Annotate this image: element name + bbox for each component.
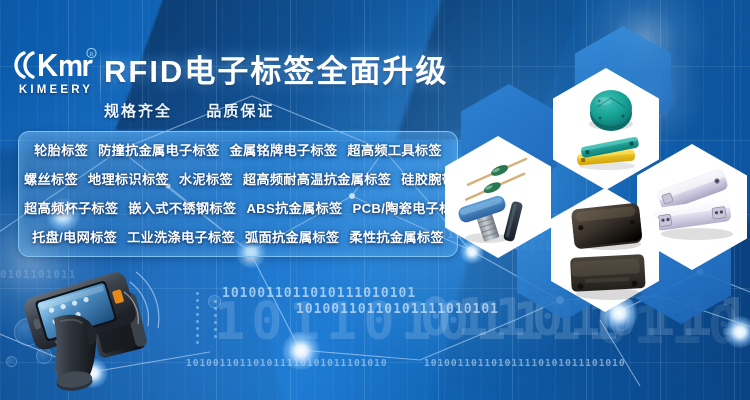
glass-tube-and-screw-tags-image xyxy=(457,148,541,248)
product-hexagon-cluster xyxy=(455,60,750,290)
brand-wordmark: KIMEERY xyxy=(14,84,98,96)
tag-item: 工业洗涤电子标签 xyxy=(127,223,235,252)
bg-binary-mid-2: 10100110110101111010101 xyxy=(296,302,499,317)
tag-item: 超高频工具标签 xyxy=(347,136,441,165)
brand-logo[interactable]: R KIMEERY xyxy=(14,48,98,104)
bg-binary-small-2: 101001101101011110101011101010 xyxy=(424,358,626,369)
tag-item: 超高频耐高温抗金属标签 xyxy=(243,165,391,194)
bg-binary-small-1: 101001101101011110101011101010 xyxy=(186,358,388,369)
tag-item: 超高频杯子标签 xyxy=(24,194,118,223)
bg-binary-mid-1: 1010011011010111010101 xyxy=(222,286,416,301)
tag-item: 弧面抗金属标签 xyxy=(245,223,339,252)
bg-bubble-4 xyxy=(208,295,221,308)
logo-divider xyxy=(100,46,101,108)
tag-item: 轮胎标签 xyxy=(34,136,88,165)
rfid-promo-banner: 10110101111 0110101111 10100110110101110… xyxy=(0,0,750,400)
tag-item: 水泥标签 xyxy=(179,165,233,194)
teal-disc-and-bar-tags-image xyxy=(567,80,651,180)
subtitle-right: 品质保证 xyxy=(206,103,274,120)
registered-mark-icon: R xyxy=(87,48,96,58)
svg-text:R: R xyxy=(89,51,94,58)
node-glow-6 xyxy=(724,316,750,348)
tag-item: 金属铭牌电子标签 xyxy=(230,136,338,165)
tag-item: 柔性抗金属标签 xyxy=(349,223,443,252)
bg-dot-column-1 xyxy=(196,292,199,348)
kmr-logo-icon: R xyxy=(14,48,98,82)
tag-item: 防撞抗金属电子标签 xyxy=(98,136,219,165)
node-glow-2 xyxy=(282,332,320,370)
headline-block: RFID电子标签全面升级 规格齐全 品质保证 xyxy=(104,50,448,121)
product-tag-panel: 轮胎标签防撞抗金属电子标签金属铭牌电子标签超高频工具标签 螺丝标签地理标识标签水… xyxy=(18,131,458,257)
tag-row: 超高频杯子标签嵌入式不锈钢标签ABS抗金属标签PCB/陶瓷电子标签 xyxy=(19,194,457,223)
tag-row: 螺丝标签地理标识标签水泥标签超高频耐高温抗金属标签硅胶腕带 xyxy=(19,165,457,194)
tag-item: ABS抗金属标签 xyxy=(246,194,342,223)
bg-bubble-3 xyxy=(6,356,17,367)
tag-item: 嵌入式不锈钢标签 xyxy=(128,194,236,223)
dark-anti-metal-tags-image xyxy=(565,200,651,302)
page-subtitle: 规格齐全 品质保证 xyxy=(104,100,448,121)
subtitle-left: 规格齐全 xyxy=(104,103,172,120)
page-title: RFID电子标签全面升级 xyxy=(104,50,448,94)
tag-row: 轮胎标签防撞抗金属电子标签金属铭牌电子标签超高频工具标签 xyxy=(19,136,457,165)
handheld-rfid-reader-image xyxy=(18,262,168,397)
tag-item: 螺丝标签 xyxy=(24,165,78,194)
tag-item: 地理标识标签 xyxy=(88,165,169,194)
lavender-anti-metal-tags-image xyxy=(647,160,739,256)
tag-row: 托盘/电网标签工业洗涤电子标签弧面抗金属标签柔性抗金属标签 xyxy=(19,223,457,252)
tag-item: 托盘/电网标签 xyxy=(32,223,117,252)
bg-dot-column-2 xyxy=(214,300,217,342)
